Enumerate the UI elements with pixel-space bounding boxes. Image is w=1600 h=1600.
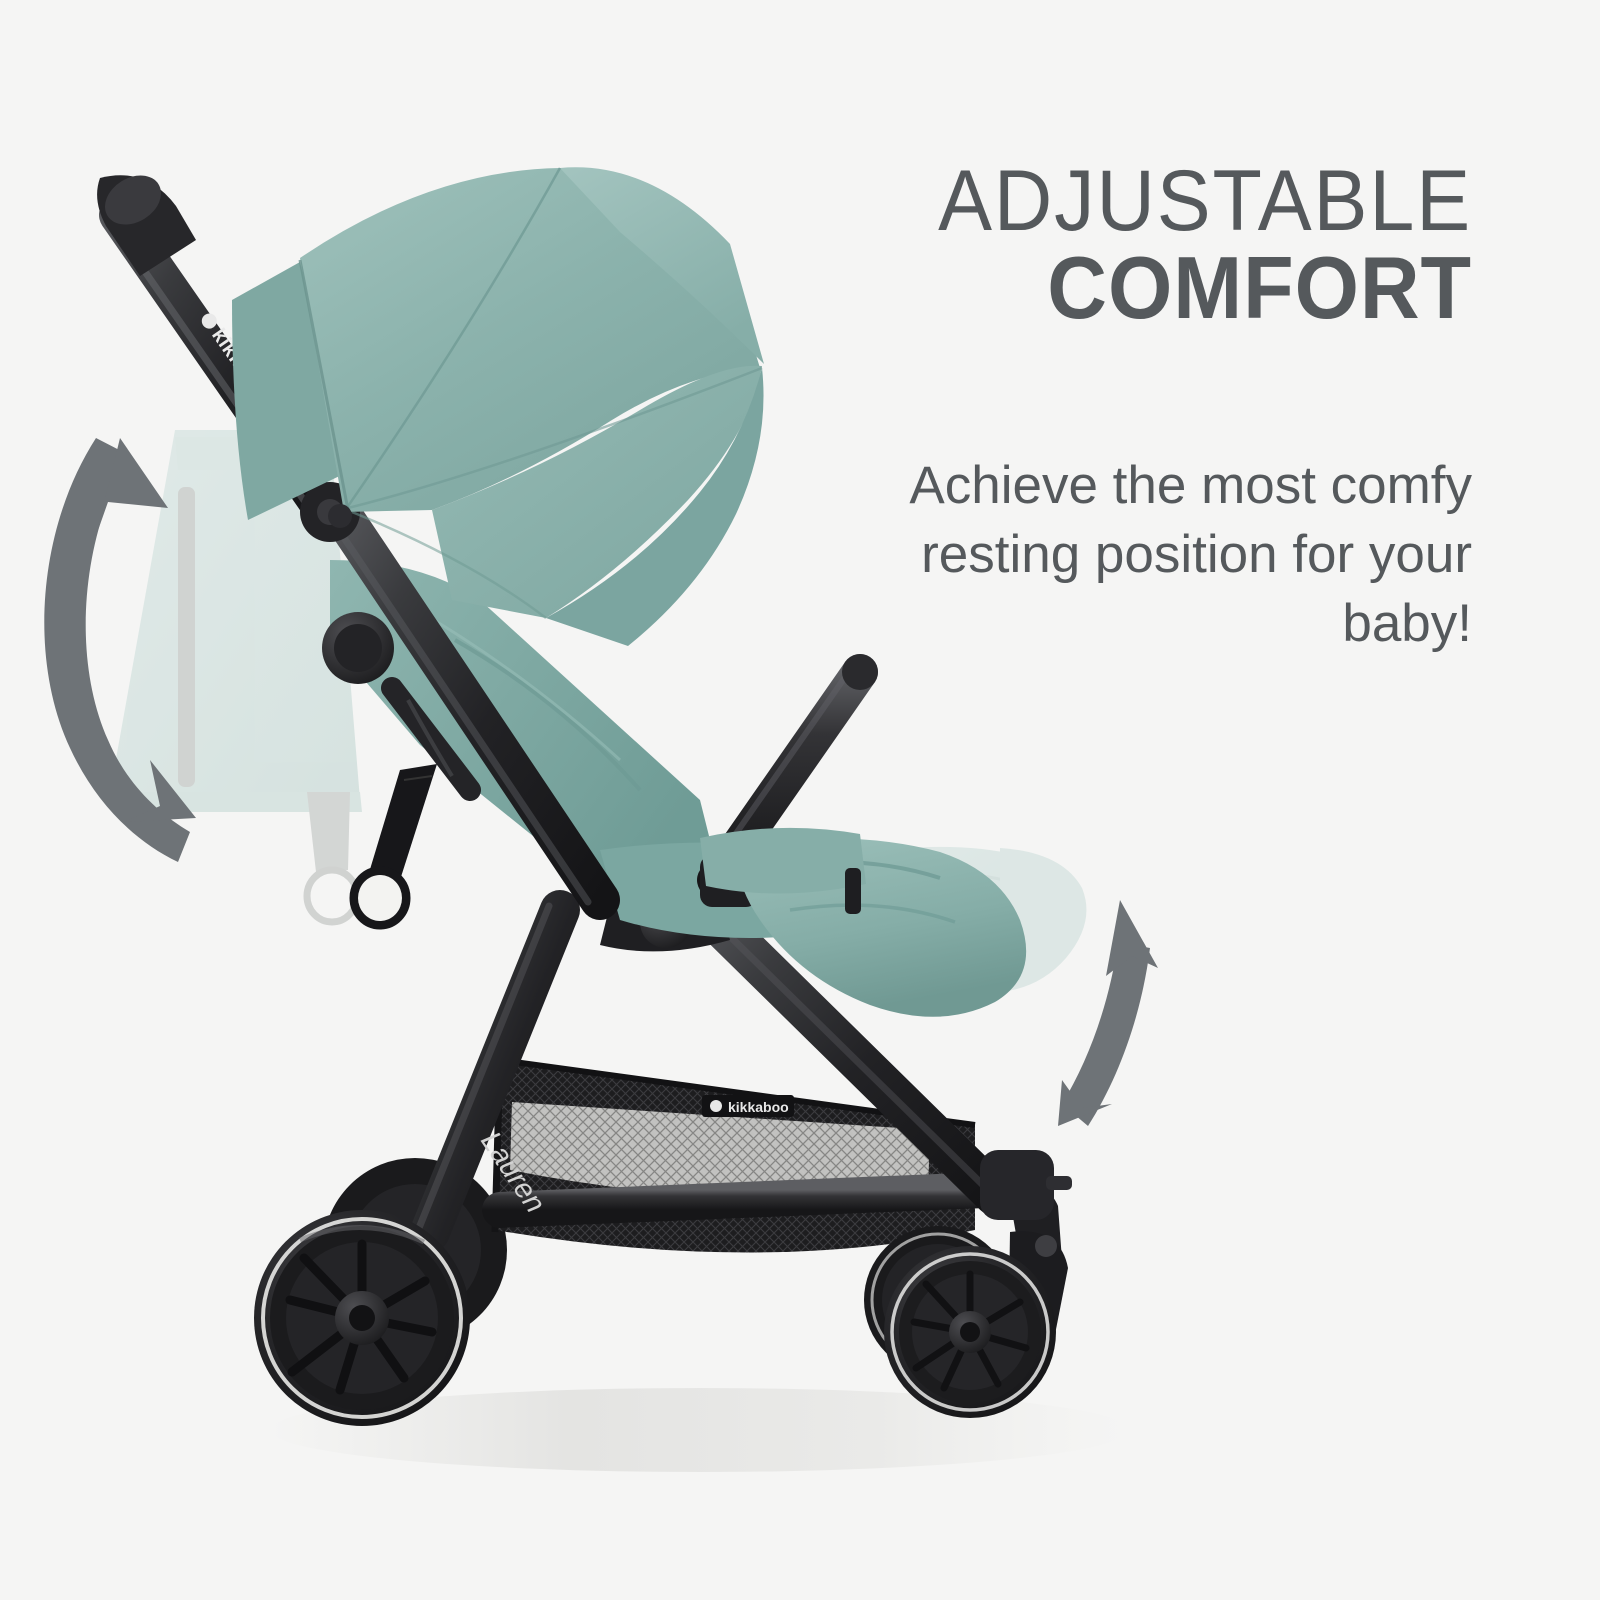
headline-line-1: ADJUSTABLE	[814, 160, 1472, 243]
backrest-recline-arrow	[44, 438, 196, 862]
rear-wheel-far	[323, 1158, 507, 1342]
svg-text:kikkaboo: kikkaboo	[728, 1099, 789, 1115]
ground-shadow	[270, 1388, 1130, 1472]
ghost-reclined-backrest	[114, 430, 363, 922]
footrest-adjust-arrow	[1058, 900, 1158, 1126]
footrest	[700, 828, 1026, 1017]
svg-text:Lauren: Lauren	[474, 1126, 551, 1219]
subcopy-text: Achieve the most comfy resting position …	[792, 452, 1472, 659]
model-name-label: Lauren	[474, 1126, 551, 1219]
ghost-raised-footrest	[848, 847, 1087, 992]
handle-brand-logo: kikka boo	[196, 309, 281, 417]
front-wheel-near	[884, 1246, 1056, 1418]
basket-brand-tag: kikkaboo	[702, 1095, 794, 1117]
marketing-banner: kikkaboo	[0, 0, 1600, 1600]
seat-backrest-fabric	[330, 560, 860, 938]
stroller-frame-handle: kikka boo Lauren	[96, 165, 600, 1218]
svg-text:kikka boo: kikka boo	[207, 325, 281, 417]
front-wheel-fork	[980, 1150, 1072, 1372]
frame-strut-and-strap	[354, 688, 470, 925]
storage-basket: kikkaboo	[495, 1058, 975, 1253]
stroller-frame-lower	[419, 891, 995, 1232]
headline-line-2: COMFORT	[814, 243, 1472, 333]
rear-wheel-near	[254, 1210, 470, 1426]
headline-block: ADJUSTABLE COMFORT	[772, 160, 1472, 332]
bumper-bar	[700, 654, 878, 907]
front-wheel-far	[864, 1226, 1012, 1374]
canopy	[232, 167, 764, 646]
